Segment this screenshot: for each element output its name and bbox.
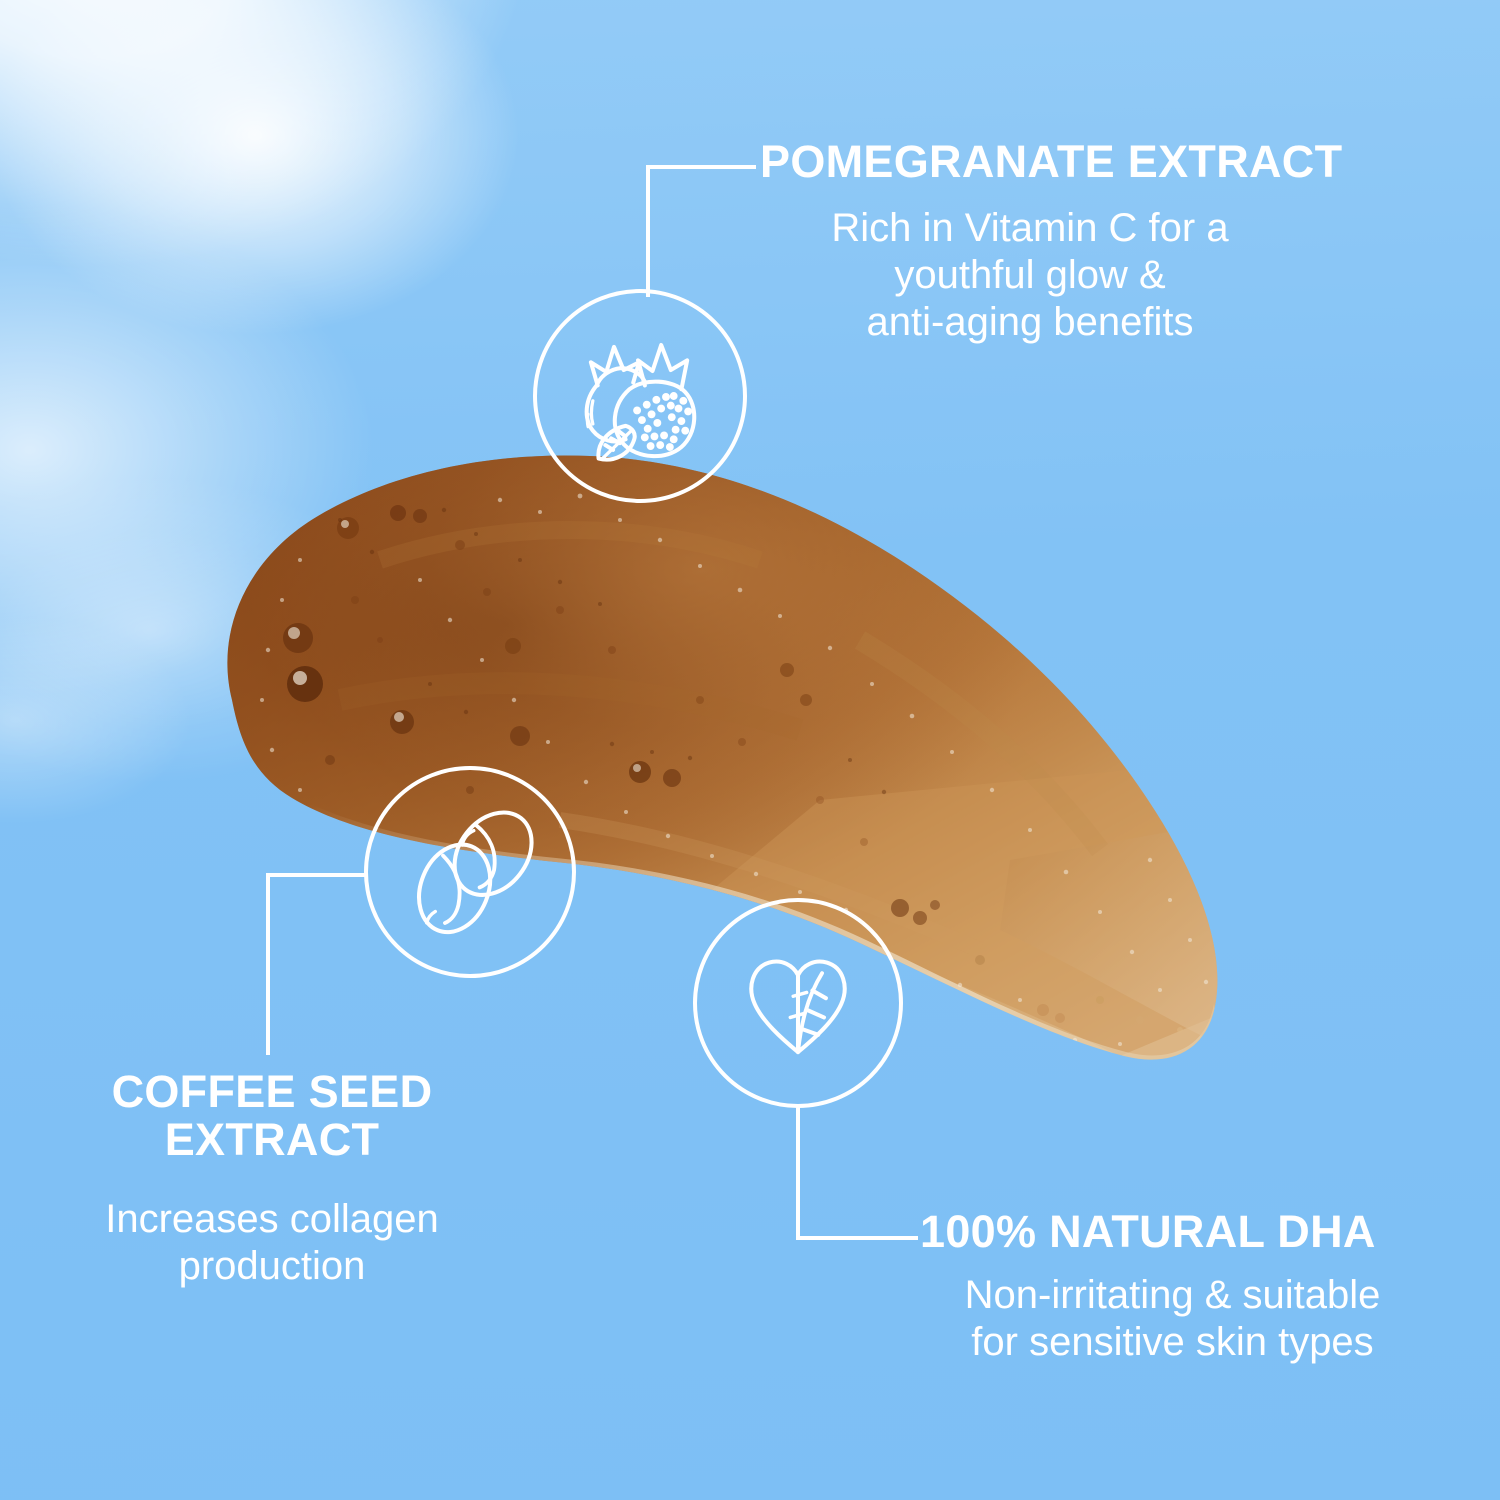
coffee-subtext-line-1: Increases collagen [52, 1196, 492, 1243]
coffee-connector-vertical [266, 873, 270, 1055]
dha-connector-horizontal [796, 1236, 918, 1240]
coffee-headline-line-1: COFFEE SEED [62, 1068, 482, 1116]
dha-subtext-line-2: for sensitive skin types [900, 1319, 1445, 1366]
coffee-connector-horizontal [266, 873, 366, 877]
pomegranate-headline: POMEGRANATE EXTRACT [760, 138, 1342, 186]
pomegranate-subtext-line-3: anti-aging benefits [760, 299, 1300, 346]
pomegranate-subtext-line-2: youthful glow & [760, 252, 1300, 299]
coffee-headline: COFFEE SEED EXTRACT [62, 1068, 482, 1163]
pomegranate-icon [537, 293, 743, 499]
dha-subtext-line-1: Non-irritating & suitable [900, 1272, 1445, 1319]
pomegranate-subtext-line-1: Rich in Vitamin C for a [760, 205, 1300, 252]
dha-headline: 100% NATURAL DHA [920, 1208, 1440, 1256]
pomegranate-connector-vertical [646, 165, 650, 297]
coffee-bean-icon [368, 770, 572, 974]
pomegranate-subtext: Rich in Vitamin C for a youthful glow & … [760, 205, 1300, 347]
pomegranate-connector-horizontal [646, 165, 756, 169]
dha-subtext: Non-irritating & suitable for sensitive … [900, 1272, 1445, 1366]
coffee-headline-line-2: EXTRACT [62, 1116, 482, 1164]
pomegranate-icon-circle [533, 289, 747, 503]
dha-icon-circle [693, 898, 903, 1108]
product-ingredient-infographic: POMEGRANATE EXTRACT Rich in Vitamin C fo… [0, 0, 1500, 1500]
coffee-subtext-line-2: production [52, 1243, 492, 1290]
heart-leaf-icon [697, 902, 899, 1104]
dha-connector-vertical [796, 1106, 800, 1240]
coffee-subtext: Increases collagen production [52, 1196, 492, 1290]
coffee-icon-circle [364, 766, 576, 978]
